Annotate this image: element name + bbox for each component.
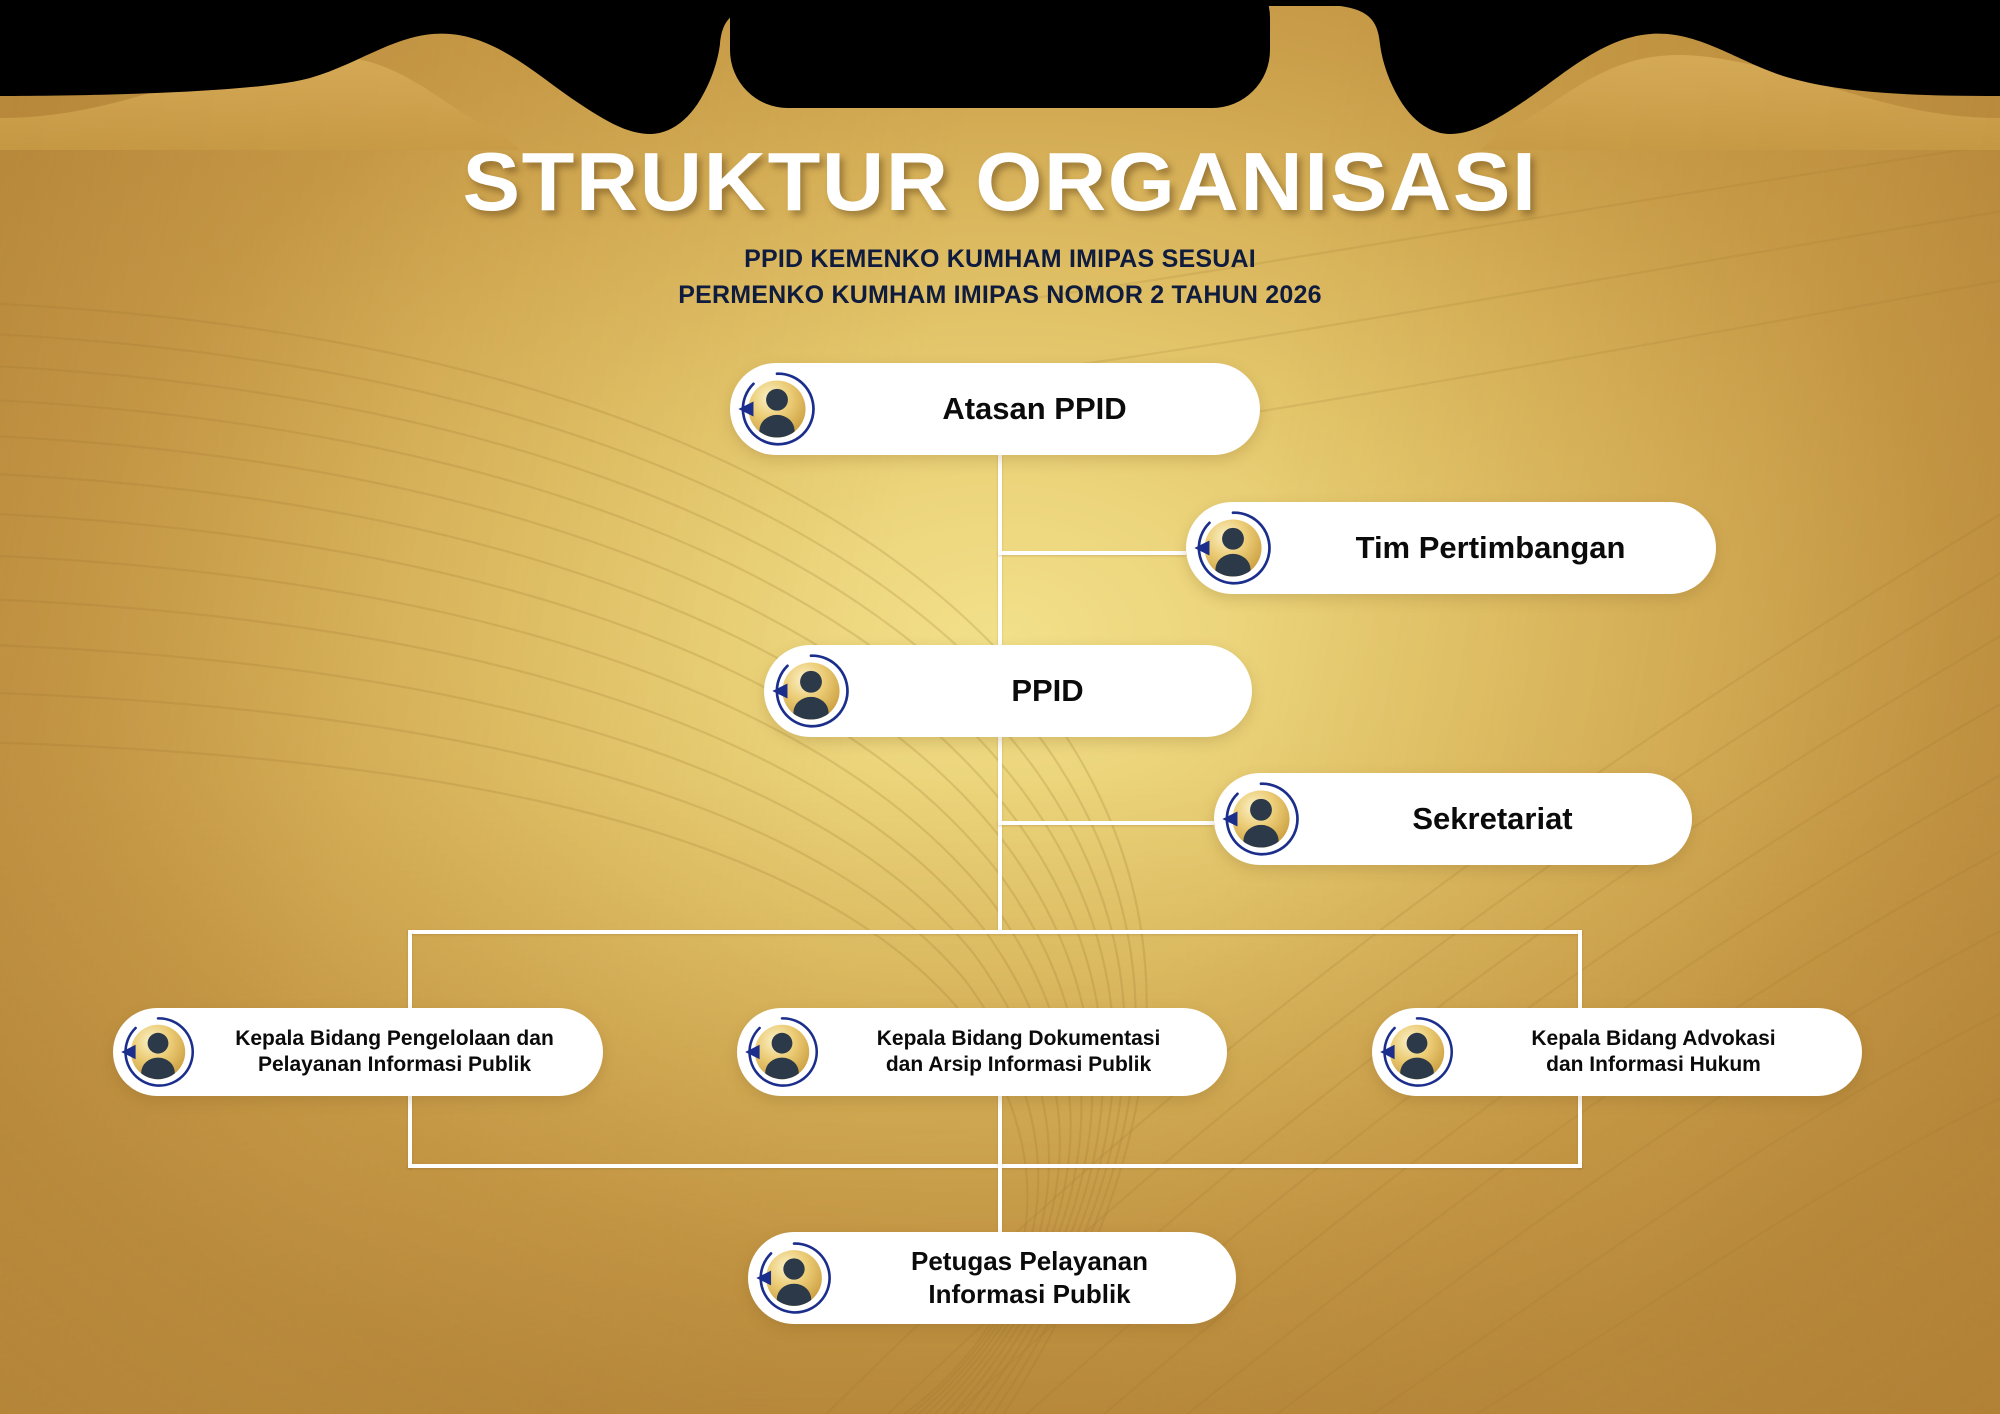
node-ppid[interactable]: PPID (764, 645, 1252, 737)
person-avatar-icon (1377, 1012, 1457, 1092)
connector-bus-bottom (408, 1164, 1582, 1168)
person-avatar-icon (735, 367, 819, 451)
connector-to-petugas (998, 1090, 1002, 1236)
node-kabid-dokumentasi[interactable]: Kepala Bidang Dokumentasi dan Arsip Info… (737, 1008, 1227, 1096)
node-label-line-2: Pelayanan Informasi Publik (202, 1052, 587, 1078)
node-label: Tim Pertimbangan (1275, 528, 1716, 567)
node-label: Kepala Bidang Advokasi dan Informasi Huk… (1457, 1026, 1862, 1079)
node-label-line-1: Petugas Pelayanan (839, 1245, 1220, 1278)
person-avatar-icon (753, 1237, 835, 1319)
node-tim-pertimbangan[interactable]: Tim Pertimbangan (1186, 502, 1716, 594)
node-label-line-1: Kepala Bidang Advokasi (1461, 1026, 1846, 1052)
node-kabid-advokasi[interactable]: Kepala Bidang Advokasi dan Informasi Huk… (1372, 1008, 1862, 1096)
node-label: Kepala Bidang Pengelolaan dan Pelayanan … (198, 1026, 603, 1079)
person-avatar-icon (1191, 506, 1275, 590)
node-label-line-1: Kepala Bidang Pengelolaan dan (202, 1026, 587, 1052)
node-label-line-2: dan Informasi Hukum (1461, 1052, 1846, 1078)
node-label-line-2: dan Arsip Informasi Publik (826, 1052, 1211, 1078)
connector-bus-top (408, 930, 1582, 934)
connector-bus-bottom-left-rise (408, 1090, 412, 1168)
person-avatar-icon (742, 1012, 822, 1092)
poster-canvas: STRUKTUR ORGANISASI PPID KEMENKO KUMHAM … (0, 0, 2000, 1414)
node-kabid-pengelolaan[interactable]: Kepala Bidang Pengelolaan dan Pelayanan … (113, 1008, 603, 1096)
node-label: PPID (853, 671, 1252, 710)
person-avatar-icon (1219, 777, 1303, 861)
node-sekretariat[interactable]: Sekretariat (1214, 773, 1692, 865)
node-atasan-ppid[interactable]: Atasan PPID (730, 363, 1260, 455)
node-label: Atasan PPID (819, 389, 1260, 428)
node-label: Petugas Pelayanan Informasi Publik (835, 1245, 1236, 1311)
person-avatar-icon (769, 649, 853, 733)
node-label-line-1: Kepala Bidang Dokumentasi (826, 1026, 1211, 1052)
node-label: Sekretariat (1303, 799, 1692, 838)
person-avatar-icon (118, 1012, 198, 1092)
node-label-line-2: Informasi Publik (839, 1278, 1220, 1311)
connector-to-sekretariat (998, 821, 1214, 825)
node-petugas-pelayanan[interactable]: Petugas Pelayanan Informasi Publik (748, 1232, 1236, 1324)
connector-to-tim-pertimbangan (998, 551, 1186, 555)
node-label: Kepala Bidang Dokumentasi dan Arsip Info… (822, 1026, 1227, 1079)
connector-bus-bottom-right-rise (1578, 1090, 1582, 1168)
